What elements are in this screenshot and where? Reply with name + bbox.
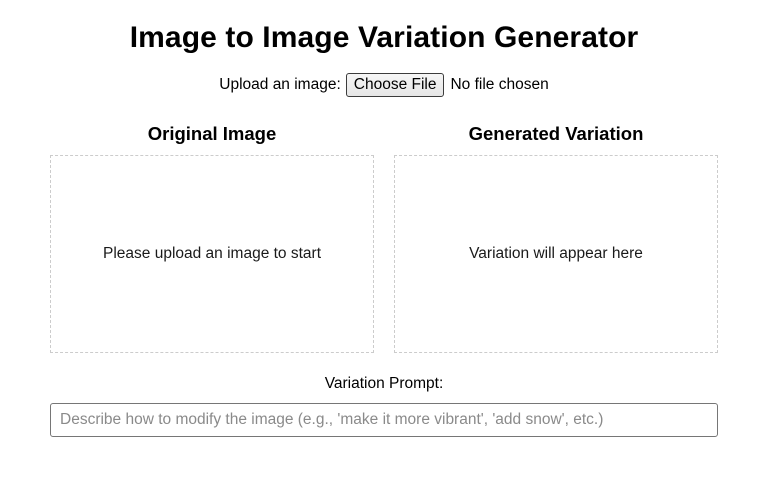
app-root: Image to Image Variation Generator Uploa… (0, 0, 768, 480)
image-panels: Original Image Please upload an image to… (0, 123, 768, 353)
generated-variation-panel: Generated Variation Variation will appea… (394, 123, 718, 353)
upload-label: Upload an image: (219, 76, 341, 93)
choose-file-button[interactable]: Choose File (346, 73, 445, 97)
page-title: Image to Image Variation Generator (0, 0, 768, 58)
prompt-section: Variation Prompt: (50, 374, 718, 437)
original-image-heading: Original Image (50, 123, 374, 145)
generated-variation-heading: Generated Variation (394, 123, 718, 145)
generated-variation-placeholder-text: Variation will appear here (469, 244, 643, 264)
file-input[interactable]: Choose FileNo file chosen (346, 73, 549, 97)
upload-row: Upload an image:Choose FileNo file chose… (0, 73, 768, 97)
original-image-placeholder-text: Please upload an image to start (103, 244, 321, 264)
file-status-text: No file chosen (450, 75, 548, 95)
prompt-label: Variation Prompt: (50, 374, 718, 394)
original-image-dropzone[interactable]: Please upload an image to start (50, 155, 374, 353)
variation-prompt-input[interactable] (50, 403, 718, 437)
generated-variation-dropzone: Variation will appear here (394, 155, 718, 353)
original-image-panel: Original Image Please upload an image to… (50, 123, 374, 353)
